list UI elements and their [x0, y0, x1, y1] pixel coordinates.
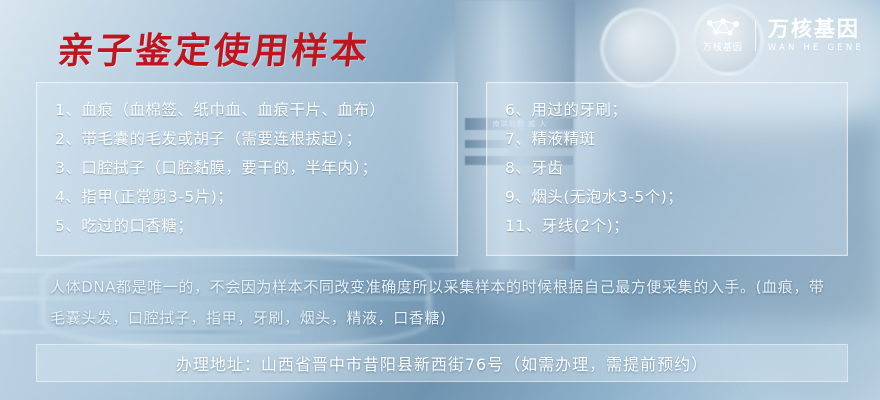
list-item: 7、精液精斑 [505, 125, 831, 154]
list-item: 8、牙齿 [505, 154, 831, 183]
list-item: 6、用过的牙刷； [505, 96, 831, 125]
list-item: 2、带毛囊的毛发或胡子（需要连根拔起）； [55, 125, 441, 154]
list-item: 4、指甲(正常剪3-5片)； [55, 183, 441, 212]
brand-name-cn: 万核基因 [768, 18, 864, 40]
page-title: 亲子鉴定使用样本 [55, 22, 372, 74]
address-bar: 办理地址：山西省晋中市昔阳县新西街76号（如需办理，需提前预约） [36, 344, 848, 382]
samples-list-right: 6、用过的牙刷； 7、精液精斑 8、牙齿 9、烟头(无泡水3-5个)； 11、牙… [487, 83, 847, 241]
samples-panel-right: 6、用过的牙刷； 7、精液精斑 8、牙齿 9、烟头(无泡水3-5个)； 11、牙… [486, 82, 848, 256]
description-paragraph: 人体DNA都是唯一的，不会因为样本不同改变准确度所以采集样本的时候根据自己最方便… [50, 272, 840, 334]
list-item: 5、吃过的口香糖； [55, 212, 441, 241]
list-item: 11、牙线(2个)； [505, 212, 831, 241]
list-item: 9、烟头(无泡水3-5个)； [505, 183, 831, 212]
samples-list-left: 1、血痕（血棉签、纸巾血、血痕干片、血布） 2、带毛囊的毛发或胡子（需要连根拔起… [37, 83, 457, 241]
brand-name-block: 万核基因 WAN HE GENE [768, 18, 864, 52]
list-item: 1、血痕（血棉签、纸巾血、血痕干片、血布） [55, 96, 441, 125]
dna-logo-icon: 万核基因 [703, 18, 743, 53]
logo-mark-label: 万核基因 [703, 40, 743, 53]
poster-canvas: 南瑞助剂 威 人 亲子鉴定使用样本 万核基因 万核基因 WAN HE GE [0, 0, 880, 400]
brand-name-en: WAN HE GENE [768, 43, 864, 53]
address-text: 办理地址：山西省晋中市昔阳县新西街76号（如需办理，需提前预约） [176, 351, 708, 375]
samples-panel-left: 1、血痕（血棉签、纸巾血、血痕干片、血布） 2、带毛囊的毛发或胡子（需要连根拔起… [36, 82, 458, 256]
brand-logo: 万核基因 万核基因 WAN HE GENE [703, 18, 864, 53]
instrument-port-left [600, 8, 680, 88]
list-item: 3、口腔拭子（口腔黏膜，要干的，半年内）； [55, 154, 441, 183]
logo-divider [755, 21, 756, 51]
